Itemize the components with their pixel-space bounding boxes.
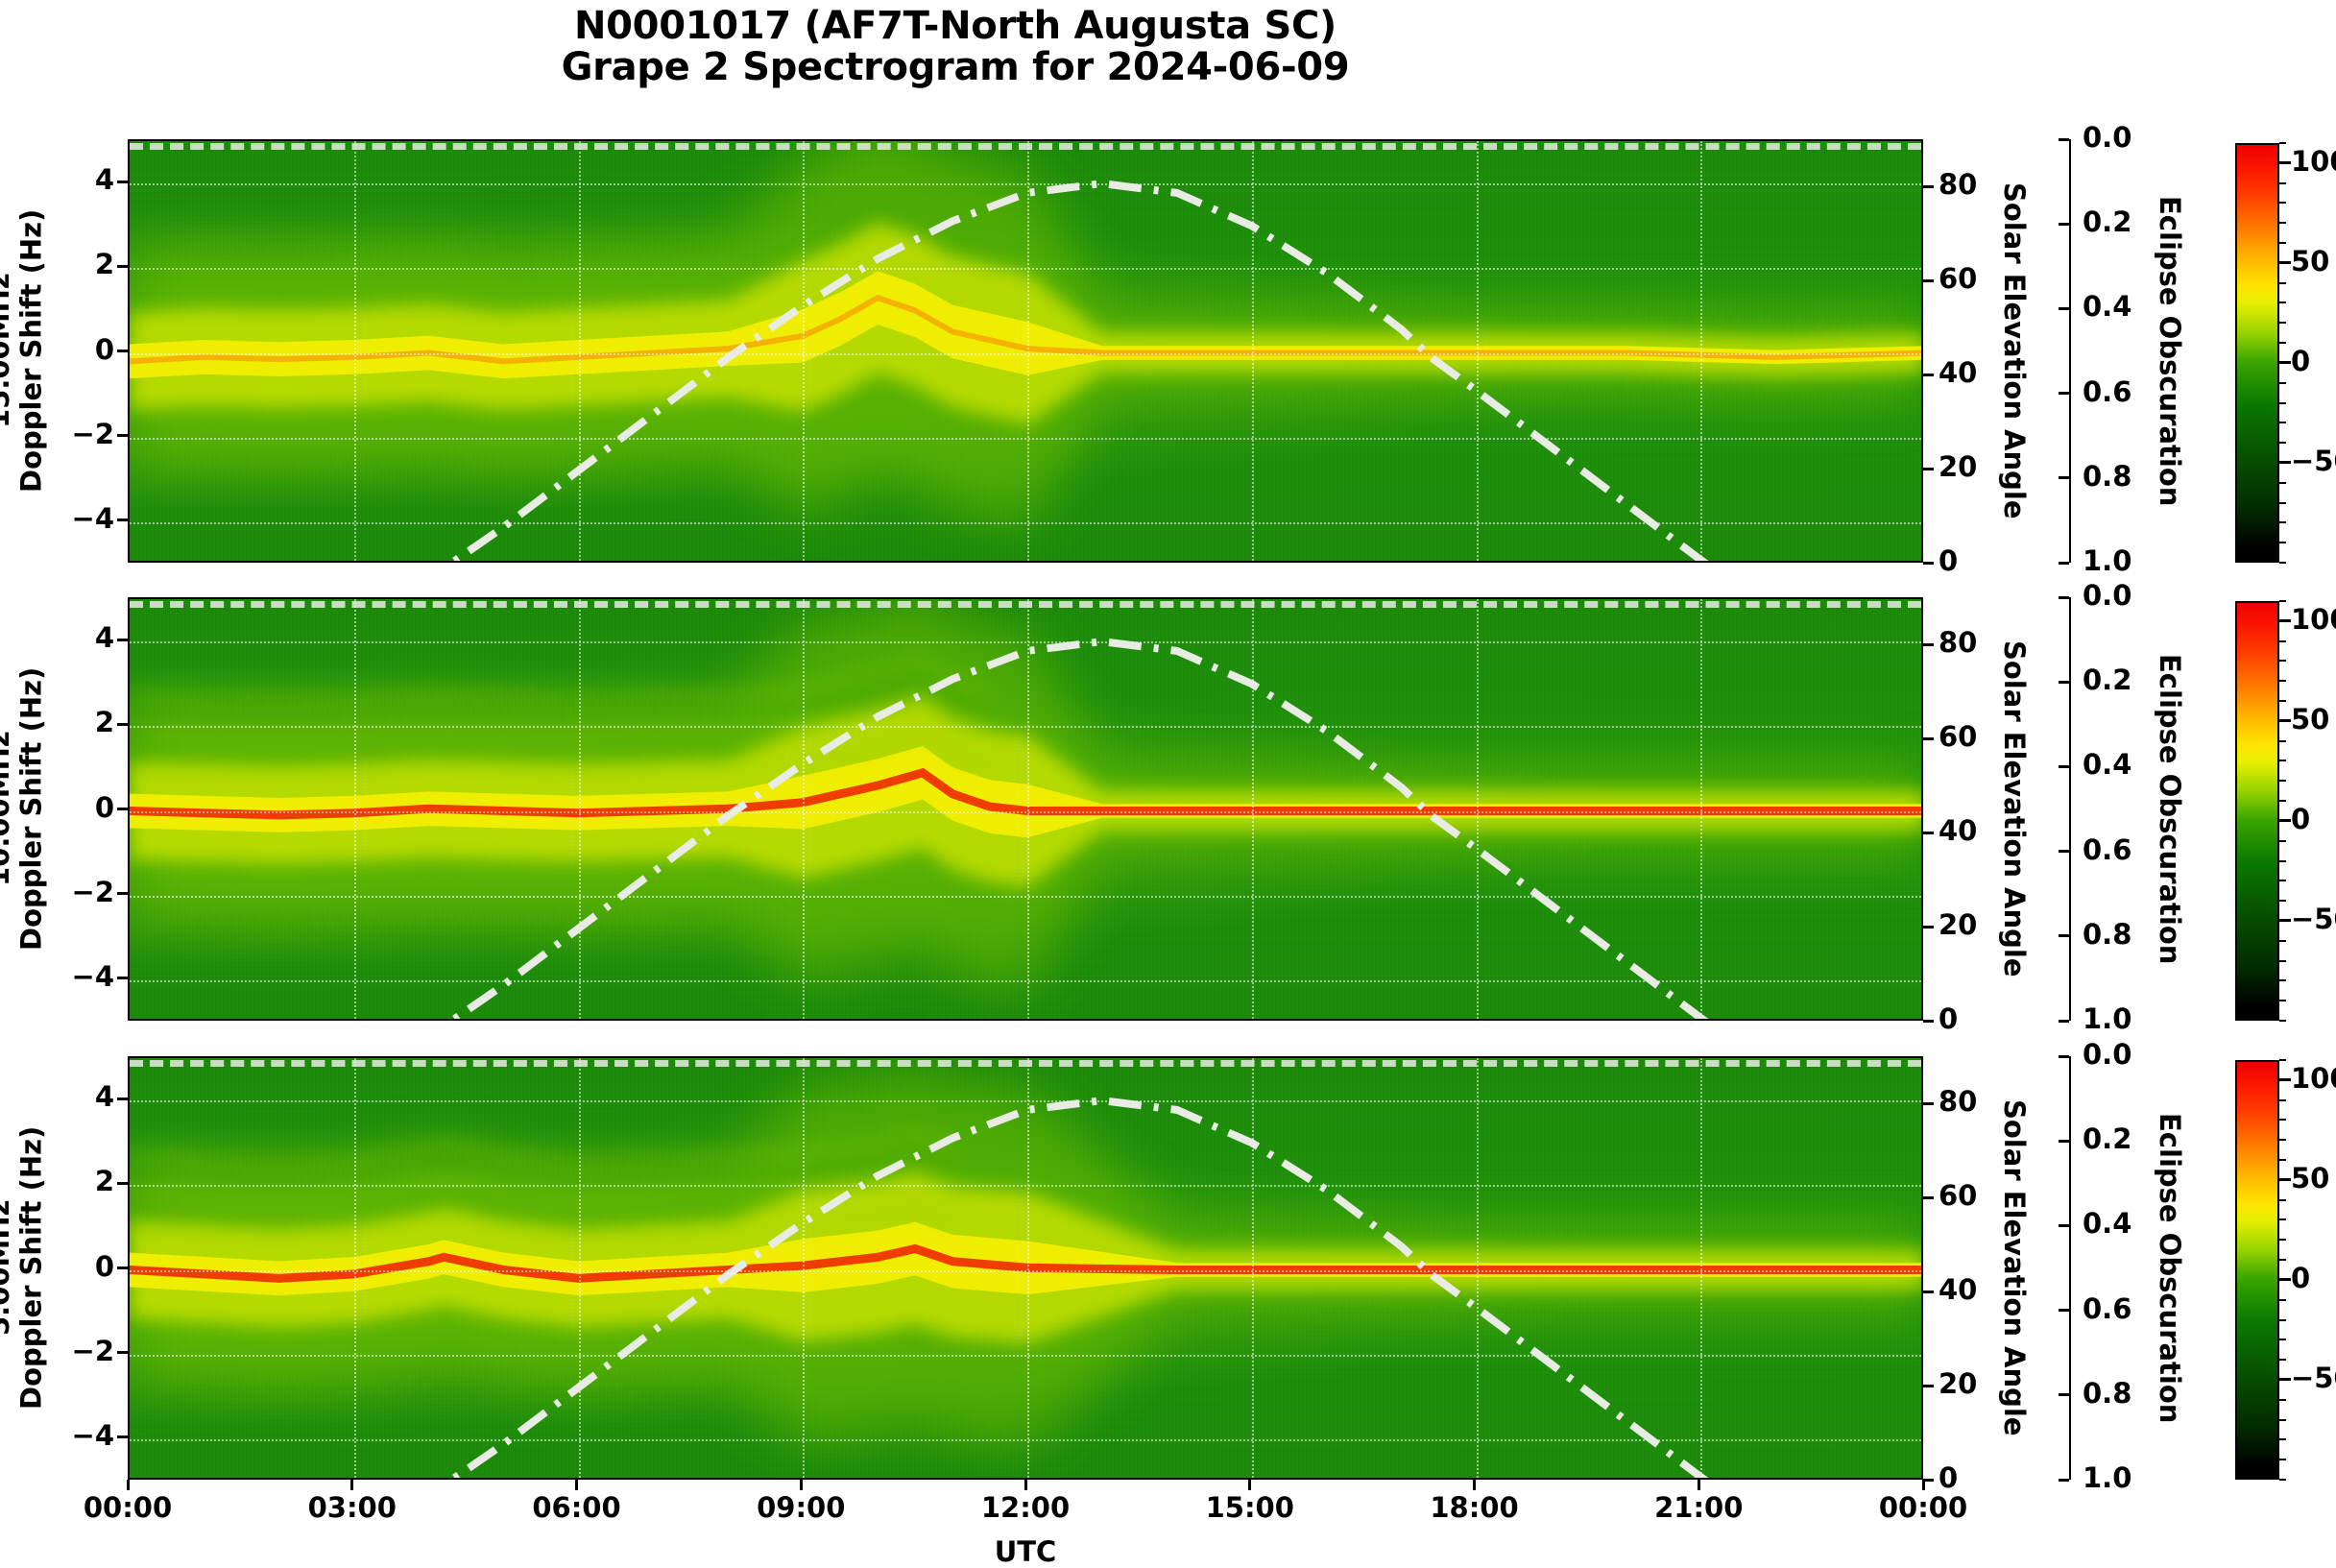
psd-colorbar-minor-tick: [2279, 1379, 2286, 1381]
eclipse-obscuration-tick-mark: [2059, 1055, 2069, 1058]
eclipse-obscuration-tick-mark: [2059, 1479, 2069, 1482]
solar-elevation-tick-mark: [1923, 1196, 1934, 1199]
eclipse-obscuration-tick-mark: [2059, 1224, 2069, 1227]
solar-elevation-tick-label: 40: [1939, 1273, 1977, 1306]
y-tick-mark: [117, 1435, 128, 1438]
y-axis-label: 5.00MHz Doppler Shift (Hz): [0, 1056, 48, 1480]
x-tick-label: 18:00: [1430, 1491, 1518, 1524]
psd-colorbar-minor-tick: [2279, 1119, 2286, 1121]
y-tick-label: 4: [59, 1080, 114, 1113]
eclipse-obscuration-tick-mark: [2059, 1309, 2069, 1312]
x-tick-mark: [127, 1480, 130, 1490]
solar-elevation-tick-label: 0: [1939, 1461, 1958, 1494]
psd-colorbar-minor-tick: [2279, 1459, 2286, 1460]
x-tick-mark: [350, 1480, 353, 1490]
x-axis-label: UTC: [995, 1535, 1057, 1568]
spectrogram-panel-5-00mhz: 420−2−45.00MHz Doppler Shift (Hz)8060402…: [0, 0, 2336, 1549]
psd-colorbar-minor-tick: [2279, 1279, 2286, 1281]
eclipse-obscuration-axis-label: Eclipse Obscuration: [2154, 1056, 2186, 1480]
psd-colorbar[interactable]: [2235, 1060, 2279, 1480]
psd-colorbar-minor-tick: [2279, 1299, 2286, 1301]
psd-colorbar-minor-tick: [2279, 1099, 2286, 1101]
psd-colorbar-minor-tick: [2279, 1438, 2286, 1440]
x-tick-label: 21:00: [1654, 1491, 1743, 1524]
psd-colorbar-minor-tick: [2279, 1179, 2286, 1181]
eclipse-obscuration-tick-mark: [2059, 1393, 2069, 1396]
y-tick-mark: [117, 1098, 128, 1100]
y-tick-mark: [117, 1351, 128, 1354]
plot-area[interactable]: [128, 1056, 1923, 1480]
psd-colorbar-minor-tick: [2279, 1239, 2286, 1241]
x-tick-label: 03:00: [308, 1491, 397, 1524]
eclipse-obscuration-spine: [2069, 1056, 2071, 1480]
y-tick-label: 0: [59, 1250, 114, 1283]
psd-colorbar-tick-label: 50: [2291, 1162, 2329, 1194]
eclipse-obscuration-tick-label: 0.2: [2083, 1122, 2131, 1155]
psd-colorbar-tick-label: −50: [2291, 1362, 2336, 1394]
solar-elevation-axis-label: Solar Elevation Angle: [1998, 1056, 2031, 1480]
x-tick-mark: [1922, 1480, 1925, 1490]
psd-colorbar-minor-tick: [2279, 1359, 2286, 1361]
solar-elevation-tick-label: 80: [1939, 1085, 1977, 1118]
psd-colorbar-minor-tick: [2279, 1059, 2286, 1061]
psd-colorbar-tick-label: 0: [2291, 1262, 2310, 1294]
psd-colorbar-minor-tick: [2279, 1159, 2286, 1161]
solar-elevation-tick-label: 60: [1939, 1179, 1977, 1212]
psd-colorbar-tick-label: 100: [2291, 1062, 2336, 1095]
psd-colorbar-minor-tick: [2279, 1079, 2286, 1081]
x-tick-label: 00:00: [1879, 1491, 1967, 1524]
y-tick-label: −2: [59, 1335, 114, 1367]
psd-colorbar-minor-tick: [2279, 1199, 2286, 1201]
solar-elevation-tick-mark: [1923, 1102, 1934, 1105]
x-tick-mark: [800, 1480, 803, 1490]
eclipse-obscuration-tick-label: 0.4: [2083, 1207, 2131, 1240]
eclipse-obscuration-tick-label: 1.0: [2083, 1461, 2131, 1494]
y-tick-mark: [117, 1182, 128, 1185]
solar-elevation-tick-mark: [1923, 1291, 1934, 1293]
x-tick-mark: [1024, 1480, 1027, 1490]
psd-colorbar-minor-tick: [2279, 1419, 2286, 1421]
eclipse-obscuration-tick-label: 0.6: [2083, 1292, 2131, 1325]
x-tick-label: 09:00: [757, 1491, 845, 1524]
y-tick-label: 2: [59, 1165, 114, 1197]
solar-elevation-curve: [130, 1058, 1923, 1480]
psd-colorbar-minor-tick: [2279, 1319, 2286, 1321]
psd-colorbar-minor-tick: [2279, 1139, 2286, 1141]
x-tick-label: 15:00: [1206, 1491, 1294, 1524]
psd-colorbar-minor-tick: [2279, 1259, 2286, 1261]
eclipse-obscuration-tick-label: 0.8: [2083, 1377, 2131, 1410]
x-tick-mark: [1473, 1480, 1476, 1490]
psd-colorbar-minor-tick: [2279, 1479, 2286, 1481]
eclipse-obscuration-line: [130, 1060, 1921, 1067]
solar-elevation-tick-mark: [1923, 1385, 1934, 1387]
eclipse-obscuration-tick-mark: [2059, 1140, 2069, 1143]
psd-colorbar-minor-tick: [2279, 1218, 2286, 1220]
psd-colorbar-minor-tick: [2279, 1399, 2286, 1401]
y-tick-mark: [117, 1266, 128, 1269]
x-tick-mark: [1248, 1480, 1251, 1490]
x-tick-label: 12:00: [981, 1491, 1070, 1524]
x-tick-label: 00:00: [84, 1491, 172, 1524]
psd-colorbar-minor-tick: [2279, 1339, 2286, 1340]
solar-elevation-tick-label: 20: [1939, 1367, 1977, 1400]
x-tick-label: 06:00: [532, 1491, 620, 1524]
x-tick-mark: [1698, 1480, 1700, 1490]
y-tick-label: −4: [59, 1419, 114, 1452]
solar-elevation-tick-mark: [1923, 1479, 1934, 1482]
x-tick-mark: [575, 1480, 578, 1490]
eclipse-obscuration-tick-label: 0.0: [2083, 1038, 2131, 1071]
